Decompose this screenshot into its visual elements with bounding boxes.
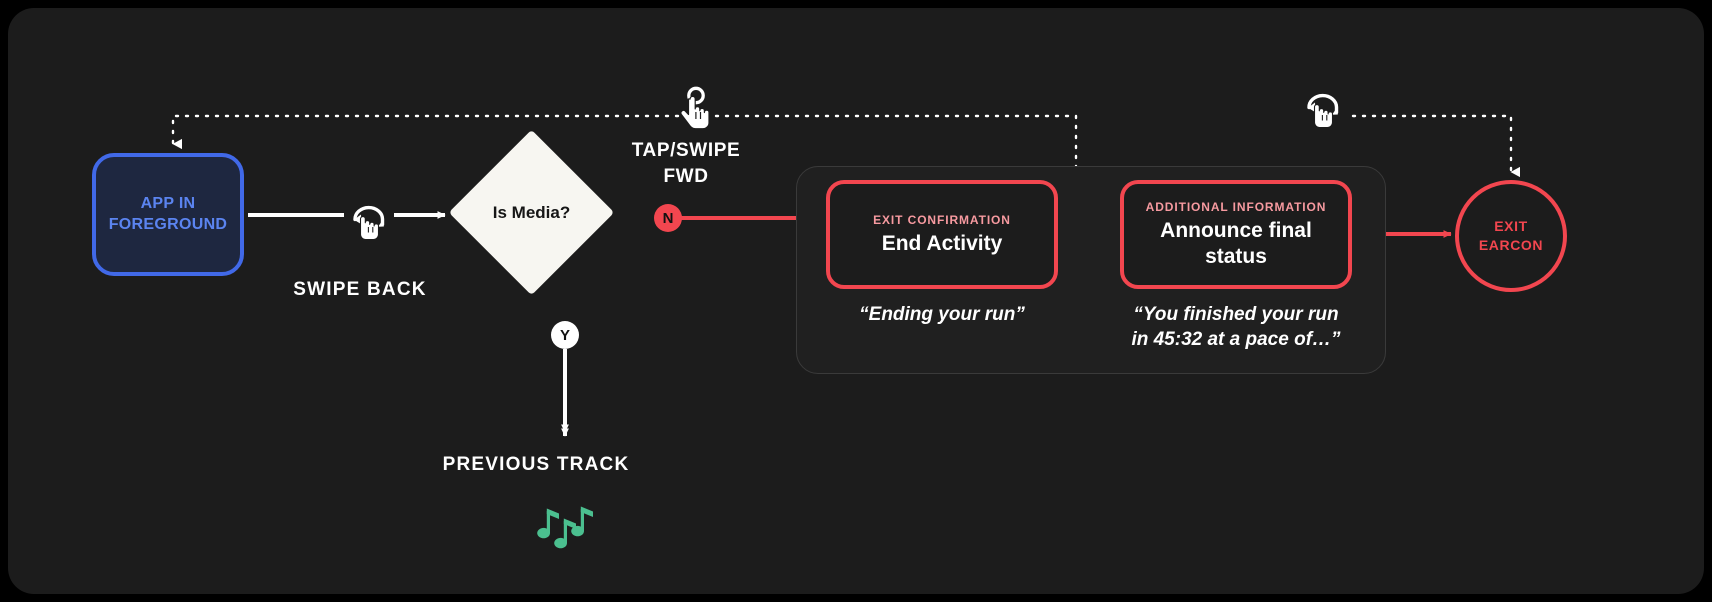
edge-swipe-back-to-earcon-dotted bbox=[1353, 116, 1511, 172]
card-additional-information[interactable]: ADDITIONAL INFORMATION Announce final st… bbox=[1120, 180, 1352, 289]
label-tap-swipe-fwd-line1: TAP/SWIPE bbox=[586, 138, 786, 164]
additional-information-title-line1: Announce final bbox=[1160, 218, 1312, 244]
exit-earcon-label-line2: EARCON bbox=[1479, 236, 1543, 255]
app-foreground-label-line1: APP IN bbox=[109, 194, 228, 215]
quote-additional-information-line2: in 45:32 at a pace of…” bbox=[1106, 327, 1366, 352]
branch-badge-yes: Y bbox=[551, 321, 579, 349]
app-foreground-label-line2: FOREGROUND bbox=[109, 215, 228, 236]
additional-information-eyebrow: ADDITIONAL INFORMATION bbox=[1146, 200, 1327, 214]
node-exit-earcon[interactable]: EXIT EARCON bbox=[1455, 180, 1567, 292]
swipe-back-gesture-icon bbox=[348, 204, 390, 246]
exit-confirmation-eyebrow: EXIT CONFIRMATION bbox=[873, 213, 1011, 227]
label-swipe-back: SWIPE BACK bbox=[240, 279, 480, 301]
quote-additional-information-line1: “You finished your run bbox=[1106, 302, 1366, 327]
additional-information-title-line2: status bbox=[1160, 244, 1312, 270]
branch-badge-no: N bbox=[654, 204, 682, 232]
label-tap-swipe-fwd: TAP/SWIPE FWD bbox=[586, 138, 786, 189]
exit-confirmation-title: End Activity bbox=[882, 231, 1003, 257]
node-app-in-foreground[interactable]: APP IN FOREGROUND bbox=[92, 153, 244, 276]
music-notes-icon bbox=[535, 503, 595, 557]
additional-information-title: Announce final status bbox=[1160, 218, 1312, 269]
diagram-canvas: APP IN FOREGROUND Is Media? N Y EXIT CON… bbox=[8, 8, 1704, 594]
exit-earcon-label-line1: EXIT bbox=[1479, 217, 1543, 236]
tap-gesture-icon bbox=[676, 86, 718, 134]
label-tap-swipe-fwd-line2: FWD bbox=[586, 164, 786, 190]
quote-additional-information: “You finished your run in 45:32 at a pac… bbox=[1106, 302, 1366, 352]
quote-exit-confirmation: “Ending your run” bbox=[812, 302, 1072, 327]
swipe-back-gesture-icon bbox=[1302, 92, 1344, 134]
label-previous-track: PREVIOUS TRACK bbox=[416, 454, 656, 476]
card-exit-confirmation[interactable]: EXIT CONFIRMATION End Activity bbox=[826, 180, 1058, 289]
